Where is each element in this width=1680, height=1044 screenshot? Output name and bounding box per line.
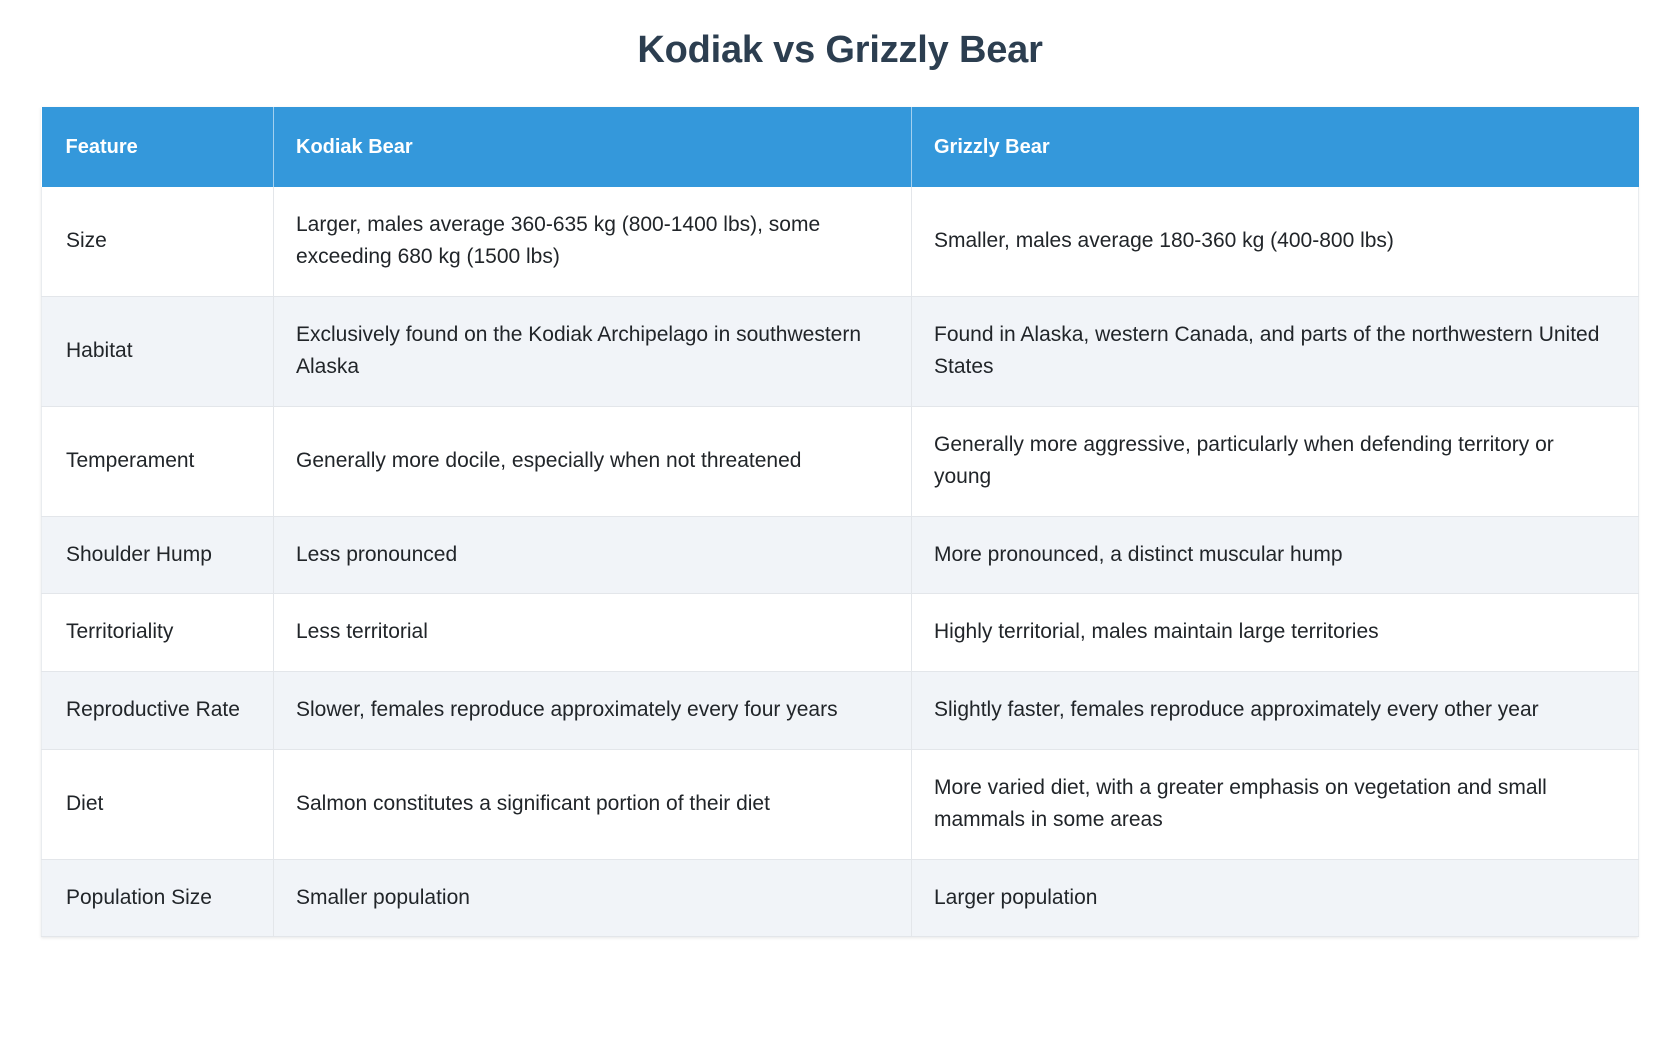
column-header-feature[interactable]: Feature <box>42 107 274 187</box>
table-row: TemperamentGenerally more docile, especi… <box>42 406 1639 516</box>
table-row: SizeLarger, males average 360-635 kg (80… <box>42 187 1639 297</box>
table-header-row: Feature Kodiak Bear Grizzly Bear <box>42 107 1639 187</box>
cell-kodiak: Generally more docile, especially when n… <box>274 406 912 516</box>
cell-kodiak: Exclusively found on the Kodiak Archipel… <box>274 296 912 406</box>
cell-grizzly: Smaller, males average 180-360 kg (400-8… <box>912 187 1639 297</box>
cell-feature: Territoriality <box>42 594 274 672</box>
cell-kodiak: Salmon constitutes a significant portion… <box>274 749 912 859</box>
cell-kodiak: Less territorial <box>274 594 912 672</box>
cell-feature: Diet <box>42 749 274 859</box>
table-row: Shoulder HumpLess pronouncedMore pronoun… <box>42 516 1639 594</box>
cell-feature: Size <box>42 187 274 297</box>
cell-feature: Temperament <box>42 406 274 516</box>
cell-grizzly: Larger population <box>912 859 1639 937</box>
column-header-grizzly[interactable]: Grizzly Bear <box>912 107 1639 187</box>
table-row: Population SizeSmaller populationLarger … <box>42 859 1639 937</box>
cell-grizzly: Slightly faster, females reproduce appro… <box>912 671 1639 749</box>
cell-kodiak: Larger, males average 360-635 kg (800-14… <box>274 187 912 297</box>
cell-grizzly: Highly territorial, males maintain large… <box>912 594 1639 672</box>
cell-feature: Reproductive Rate <box>42 671 274 749</box>
cell-feature: Shoulder Hump <box>42 516 274 594</box>
page-title: Kodiak vs Grizzly Bear <box>0 0 1680 74</box>
table-row: DietSalmon constitutes a significant por… <box>42 749 1639 859</box>
page-root: Kodiak vs Grizzly Bear Feature Kodiak Be… <box>0 0 1680 1044</box>
cell-kodiak: Slower, females reproduce approximately … <box>274 671 912 749</box>
cell-feature: Habitat <box>42 296 274 406</box>
cell-kodiak: Smaller population <box>274 859 912 937</box>
comparison-table-container: Feature Kodiak Bear Grizzly Bear SizeLar… <box>41 107 1638 938</box>
cell-grizzly: Generally more aggressive, particularly … <box>912 406 1639 516</box>
cell-feature: Population Size <box>42 859 274 937</box>
cell-grizzly: More pronounced, a distinct muscular hum… <box>912 516 1639 594</box>
cell-grizzly: Found in Alaska, western Canada, and par… <box>912 296 1639 406</box>
table-row: HabitatExclusively found on the Kodiak A… <box>42 296 1639 406</box>
table-row: Reproductive RateSlower, females reprodu… <box>42 671 1639 749</box>
table-header: Feature Kodiak Bear Grizzly Bear <box>42 107 1639 187</box>
table-body: SizeLarger, males average 360-635 kg (80… <box>42 187 1639 937</box>
cell-grizzly: More varied diet, with a greater emphasi… <box>912 749 1639 859</box>
table-row: TerritorialityLess territorialHighly ter… <box>42 594 1639 672</box>
cell-kodiak: Less pronounced <box>274 516 912 594</box>
comparison-table: Feature Kodiak Bear Grizzly Bear SizeLar… <box>41 107 1639 938</box>
column-header-kodiak[interactable]: Kodiak Bear <box>274 107 912 187</box>
